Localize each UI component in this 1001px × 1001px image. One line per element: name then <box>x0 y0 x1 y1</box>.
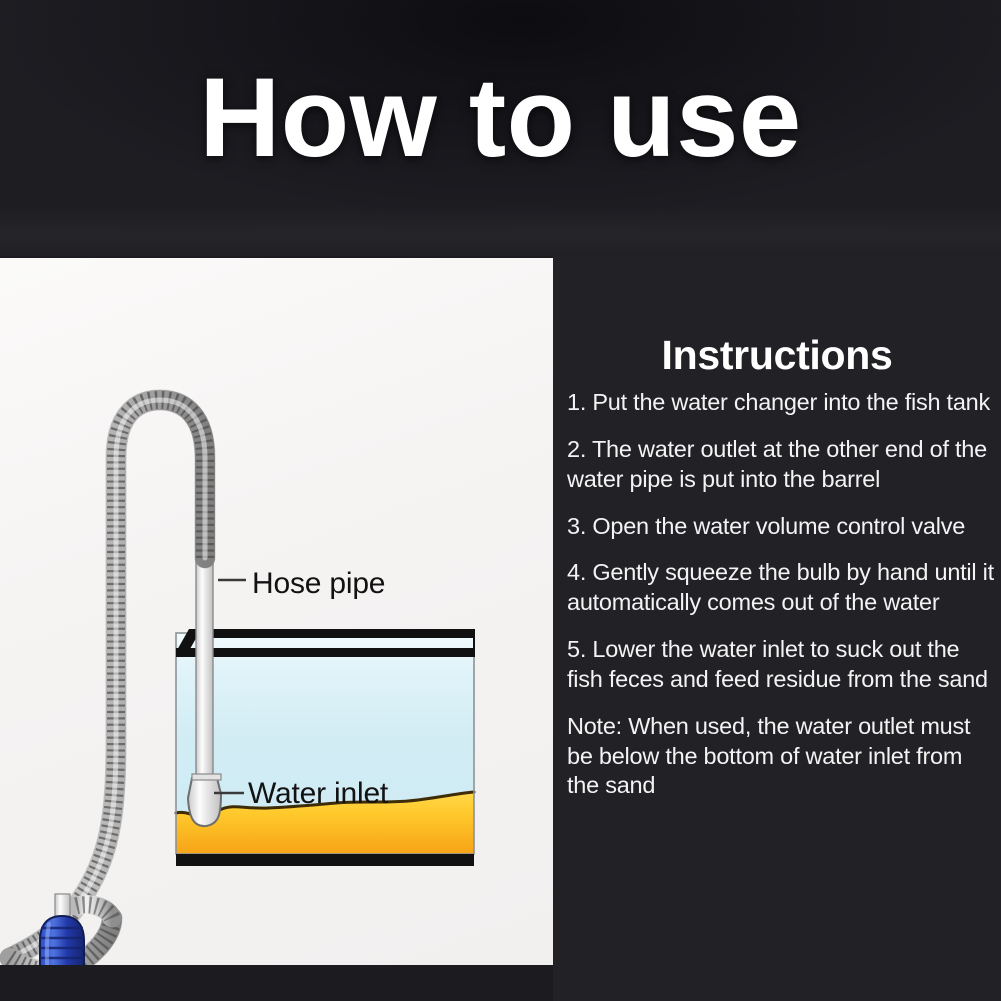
instruction-step-3: 3. Open the water volume control valve <box>567 512 995 542</box>
tank-rim-back <box>189 629 474 638</box>
header-sheen <box>0 206 1001 256</box>
tank-base <box>176 854 474 866</box>
instruction-note: Note: When used, the water outlet must b… <box>567 712 995 802</box>
instructions-panel: Instructions 1. Put the water changer in… <box>553 256 1001 1001</box>
header-banner: How to use <box>0 0 1001 256</box>
bulb <box>40 916 84 965</box>
instructions-title: Instructions <box>553 332 1001 379</box>
page-title: How to use <box>0 62 1001 174</box>
diagram-label-bulb: Bulb <box>253 963 312 965</box>
diagram-panel: Hose pipe Water inlet Bulb Water outletf <box>0 258 553 965</box>
intake-tube <box>196 558 213 780</box>
diagram-label-water-inlet: Water inlet <box>248 777 388 811</box>
instructions-steps-list: 1. Put the water changer into the fish t… <box>567 388 995 818</box>
water-inlet-bell <box>188 778 221 826</box>
intake-joint-ring <box>192 774 221 780</box>
instruction-step-4: 4. Gently squeeze the bulb by hand until… <box>567 558 995 618</box>
tank-rim-front <box>176 648 474 657</box>
siphon-diagram <box>0 258 553 965</box>
diagram-label-hose-pipe: Hose pipe <box>252 567 385 601</box>
instruction-step-1: 1. Put the water changer into the fish t… <box>567 388 995 418</box>
instruction-step-2: 2. The water outlet at the other end of … <box>567 435 995 495</box>
product-instruction-infographic: How to use <box>0 0 1001 1001</box>
instruction-step-5: 5. Lower the water inlet to suck out the… <box>567 635 995 695</box>
